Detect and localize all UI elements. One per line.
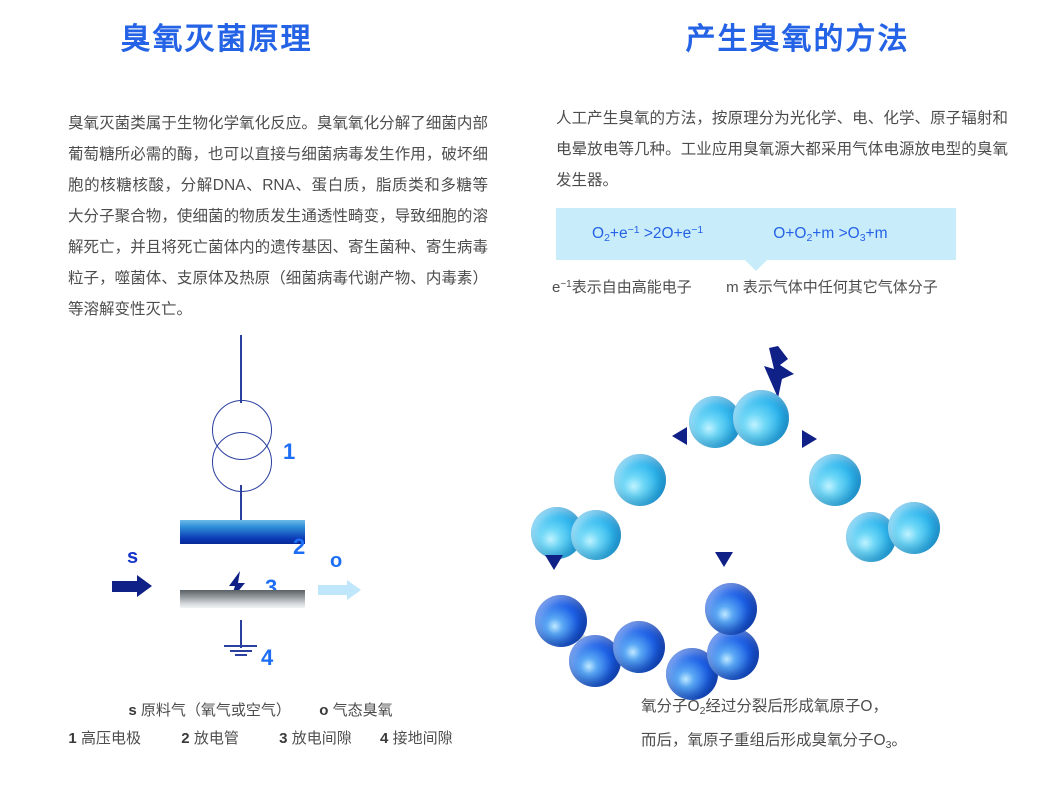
legend-row-gases: s 原料气（氧气或空气） o 气态臭氧	[0, 697, 521, 725]
discharge-tube-ground-bar	[180, 590, 305, 608]
formula-box-notch-icon	[745, 260, 767, 271]
legend-key-2: 2	[181, 730, 189, 747]
ozone-formation-diagram	[521, 340, 1042, 685]
formula-legend-electron: e−1表示自由高能电子	[552, 279, 692, 296]
high-voltage-electrode	[180, 520, 305, 544]
oxygen-atom	[888, 502, 940, 554]
supply-wire-middle	[240, 485, 242, 520]
free-oxygen-atom-left	[614, 454, 666, 506]
legend-key-o: o	[319, 702, 328, 719]
split-arrow-right-icon	[802, 430, 817, 448]
oxygen-atom	[571, 510, 621, 560]
formula-legend: e−1表示自由高能电子 m 表示气体中任何其它气体分子	[552, 276, 1022, 297]
legend-key-4: 4	[380, 730, 388, 747]
legend-value-2: 放电管	[194, 730, 239, 747]
oxygen-atom	[733, 390, 789, 446]
ozone-atom	[707, 628, 759, 680]
callout-number-2: 2	[293, 534, 305, 560]
right-caption: 氧分子O2经过分裂后形成氧原子O， 而后，氧原子重组后形成臭氧分子O3。	[521, 692, 1042, 760]
split-arrow-left-icon	[672, 427, 687, 445]
recombine-arrow-left-icon	[545, 555, 563, 570]
ozone-atom	[613, 621, 665, 673]
ozone-generator-diagram: 1 2 3 4 s o	[0, 335, 521, 685]
legend-value-s: 原料气（氧气或空气）	[141, 702, 291, 719]
legend-value-o: 气态臭氧	[333, 702, 393, 719]
poster-root: 臭氧灭菌原理 臭氧灭菌类属于生物化学氧化反应。臭氧氧化分解了细菌内部葡萄糖所必需…	[0, 0, 1042, 785]
left-body-paragraph: 臭氧灭菌类属于生物化学氧化反应。臭氧氧化分解了细菌内部葡萄糖所必需的酶，也可以直…	[68, 108, 488, 325]
outlet-label-o: o	[330, 550, 342, 573]
recombine-arrow-right-icon	[715, 552, 733, 567]
right-caption-line-2: 而后，氧原子重组后形成臭氧分子O3。	[641, 726, 1042, 760]
right-caption-line-1: 氧分子O2经过分裂后形成氧原子O，	[641, 692, 1042, 726]
legend-key-3: 3	[279, 730, 287, 747]
legend-value-4: 接地间隙	[393, 730, 453, 747]
callout-number-4: 4	[261, 645, 273, 671]
legend-value-1: 高压电极	[81, 730, 141, 747]
inlet-label-s: s	[127, 546, 138, 569]
legend-key-s: s	[128, 702, 136, 719]
right-section-title: 产生臭氧的方法	[537, 22, 1042, 58]
ozone-atom	[705, 583, 757, 635]
supply-wire-top	[240, 335, 242, 403]
earth-ground-icon	[224, 645, 257, 659]
reaction-formula-2: O+O2+m >O3+m	[773, 225, 887, 244]
ground-wire	[240, 620, 242, 648]
reaction-formula-1: O2+e−1 >2O+e−1	[592, 224, 703, 244]
left-section-title: 臭氧灭菌原理	[0, 22, 477, 58]
free-oxygen-atom-right	[809, 454, 861, 506]
legend-row-parts: 1 高压电极 2 放电管 3 放电间隙 4 接地间隙	[0, 725, 521, 753]
formula-legend-m: m 表示气体中任何其它气体分子	[726, 279, 938, 296]
left-legend: s 原料气（氧气或空气） o 气态臭氧 1 高压电极 2 放电管 3 放电间隙 …	[0, 697, 521, 753]
callout-number-1: 1	[283, 439, 295, 465]
legend-value-3: 放电间隙	[292, 730, 352, 747]
legend-key-1: 1	[68, 730, 76, 747]
left-column: 臭氧灭菌原理 臭氧灭菌类属于生物化学氧化反应。臭氧氧化分解了细菌内部葡萄糖所必需…	[0, 0, 521, 785]
transformer-coil-lower-icon	[212, 432, 272, 492]
reaction-formula-box: O2+e−1 >2O+e−1 O+O2+m >O3+m	[556, 208, 956, 260]
right-body-paragraph: 人工产生臭氧的方法，按原理分为光化学、电、化学、原子辐射和电晕放电等几种。工业应…	[556, 103, 1008, 196]
